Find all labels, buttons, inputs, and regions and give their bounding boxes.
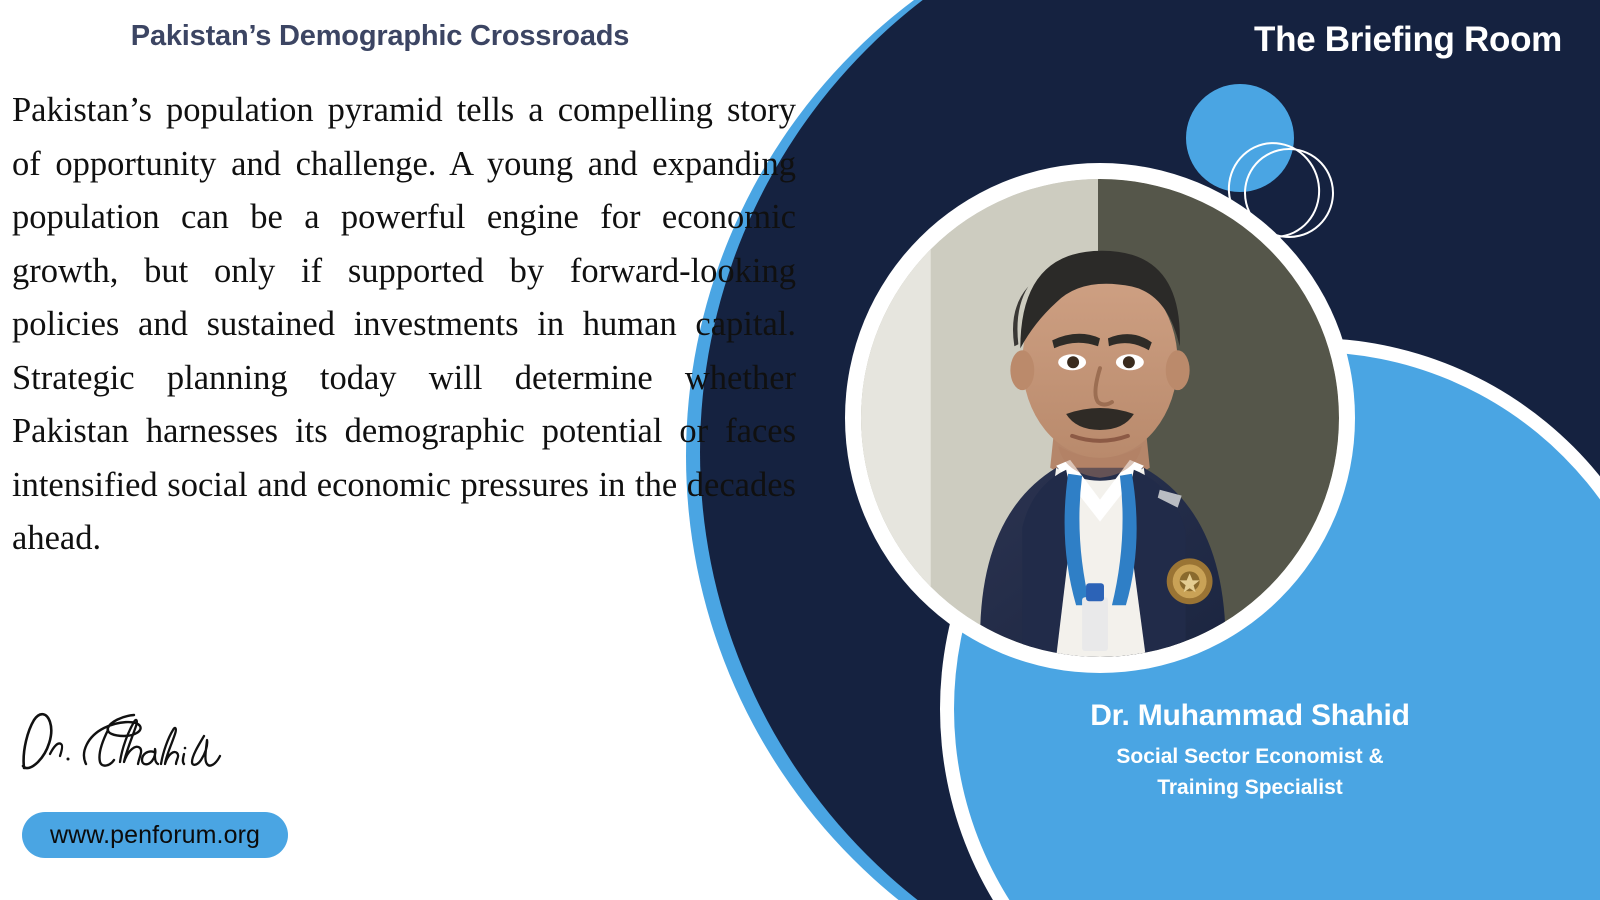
speaker-role: Social Sector Economist & Training Speci…	[1020, 741, 1480, 803]
page-title: Pakistan’s Demographic Crossroads	[0, 20, 760, 53]
avatar-ring	[845, 163, 1355, 673]
speaker-identity: Dr. Muhammad Shahid Social Sector Econom…	[1020, 697, 1480, 803]
speaker-role-line-1: Social Sector Economist &	[1020, 741, 1480, 772]
panel-title: The Briefing Room	[1254, 20, 1562, 60]
speaker-role-line-2: Training Specialist	[1020, 772, 1480, 803]
signature	[14, 706, 244, 784]
briefing-room-card: The Briefing Room	[0, 0, 1600, 900]
article-body: Pakistan’s population pyramid tells a co…	[12, 84, 796, 619]
speaker-name: Dr. Muhammad Shahid	[1020, 697, 1480, 735]
website-url-label: www.penforum.org	[50, 821, 260, 850]
avatar	[861, 179, 1339, 657]
website-url-button[interactable]: www.penforum.org	[22, 812, 288, 858]
article-column: Pakistan’s Demographic Crossroads Pakist…	[0, 0, 812, 900]
